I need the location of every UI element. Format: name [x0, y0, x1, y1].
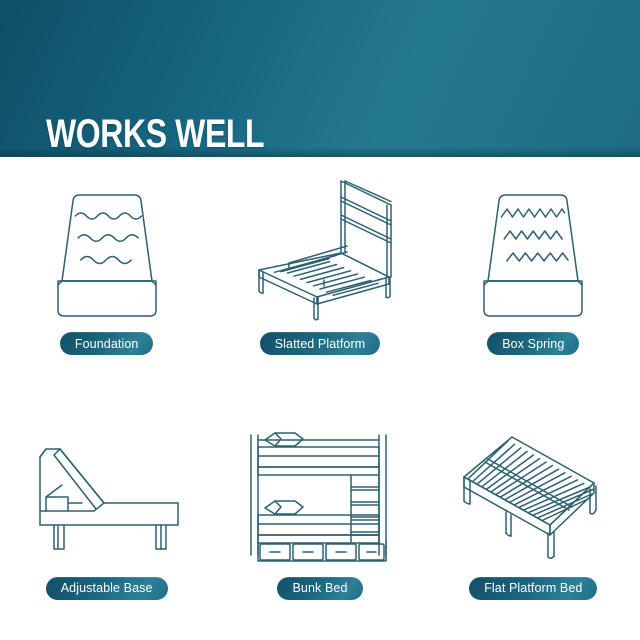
- base-card-box-spring[interactable]: Box Spring: [427, 157, 640, 399]
- box-spring-icon: [442, 173, 624, 328]
- flat-platform-bed-icon: [442, 415, 624, 575]
- base-label-bunk-bed[interactable]: Bunk Bed: [277, 577, 362, 600]
- base-card-bunk-bed[interactable]: Bunk Bed: [213, 399, 426, 640]
- base-label-adjustable-base[interactable]: Adjustable Base: [46, 577, 168, 600]
- base-card-foundation[interactable]: Foundation: [0, 157, 213, 399]
- bases-grid: Foundation: [0, 157, 640, 640]
- base-label-flat-platform-bed[interactable]: Flat Platform Bed: [469, 577, 597, 600]
- base-card-adjustable-base[interactable]: Adjustable Base: [0, 399, 213, 640]
- adjustable-base-icon: [16, 415, 198, 575]
- header-banner: WORKS WELL WITH THESE BASES: [0, 0, 640, 157]
- page-title-line-1: WORKS WELL: [46, 112, 356, 156]
- base-label-slatted-platform[interactable]: Slatted Platform: [260, 332, 381, 355]
- slatted-platform-bed-icon: [229, 173, 411, 328]
- page-title: WORKS WELL WITH THESE BASES: [46, 24, 356, 157]
- base-card-flat-platform-bed[interactable]: Flat Platform Bed: [427, 399, 640, 640]
- base-card-slatted-platform[interactable]: Slatted Platform: [213, 157, 426, 399]
- base-label-foundation[interactable]: Foundation: [60, 332, 154, 355]
- base-label-box-spring[interactable]: Box Spring: [487, 332, 579, 355]
- foundation-mattress-icon: [16, 173, 198, 328]
- infographic-page: WORKS WELL WITH THESE BASES: [0, 0, 640, 640]
- bunk-bed-icon: [229, 415, 411, 575]
